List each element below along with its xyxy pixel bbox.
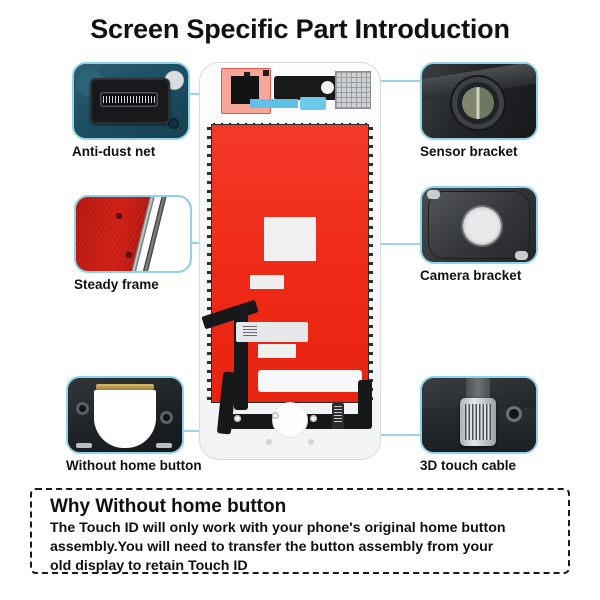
note-line-2: assembly.You will need to transfer the b… (50, 538, 554, 557)
phone-small-chip-2 (263, 70, 269, 76)
phone-small-chip-1 (244, 72, 250, 78)
callout-label-steady-frame: Steady frame (74, 277, 192, 292)
callout-without-home-button[interactable]: Without home button (66, 376, 202, 473)
flex-cable-connector-pad (236, 322, 308, 342)
phone-screen-assembly-image (199, 62, 381, 460)
phone-panel-label-small (250, 275, 284, 289)
phone-panel-label-square (264, 217, 316, 261)
anti-dust-net-icon (72, 62, 190, 140)
callout-label-anti-dust-net: Anti-dust net (72, 144, 190, 159)
callout-label-sensor-bracket: Sensor bracket (420, 144, 538, 159)
phone-3d-touch-connector (332, 403, 344, 429)
callout-anti-dust-net[interactable]: Anti-dust net (72, 62, 190, 159)
phone-bottom-mark-1 (266, 439, 272, 445)
phone-bottom-screw-2 (272, 412, 279, 419)
flex-cable-segment-5 (358, 380, 372, 428)
phone-blue-tape-2 (300, 97, 326, 110)
callout-sensor-bracket[interactable]: Sensor bracket (420, 62, 538, 159)
without-home-button-icon (66, 376, 184, 454)
phone-bottom-screw-3 (310, 415, 317, 422)
flex-cable-white-pad-1 (258, 370, 362, 392)
phone-bottom-mark-2 (308, 439, 314, 445)
phone-blue-tape-1 (250, 99, 298, 108)
page-title: Screen Specific Part Introduction (0, 14, 600, 45)
callout-camera-bracket[interactable]: Camera bracket (420, 186, 538, 283)
callout-label-3d-touch-cable: 3D touch cable (420, 458, 538, 473)
phone-bottom-screw-1 (234, 415, 241, 422)
callout-steady-frame[interactable]: Steady frame (74, 195, 192, 292)
3d-touch-cable-icon (420, 376, 538, 454)
steady-frame-icon (74, 195, 192, 273)
infographic-page: Screen Specific Part Introduction (0, 0, 600, 600)
callout-label-camera-bracket: Camera bracket (420, 268, 538, 283)
why-without-home-button-note: Why Without home button The Touch ID wil… (30, 488, 570, 574)
phone-speaker-mesh (335, 71, 371, 109)
phone-camera-hole (321, 81, 334, 94)
note-line-3: old display to retain Touch ID (50, 557, 554, 576)
phone-home-button-opening (273, 403, 307, 437)
callout-label-without-home-button: Without home button (66, 458, 202, 473)
note-title: Why Without home button (50, 496, 554, 518)
note-line-1: The Touch ID will only work with your ph… (50, 519, 554, 538)
callout-3d-touch-cable[interactable]: 3D touch cable (420, 376, 538, 473)
camera-bracket-icon (420, 186, 538, 264)
flex-cable-white-pad-2 (258, 344, 296, 358)
sensor-bracket-icon (420, 62, 538, 140)
